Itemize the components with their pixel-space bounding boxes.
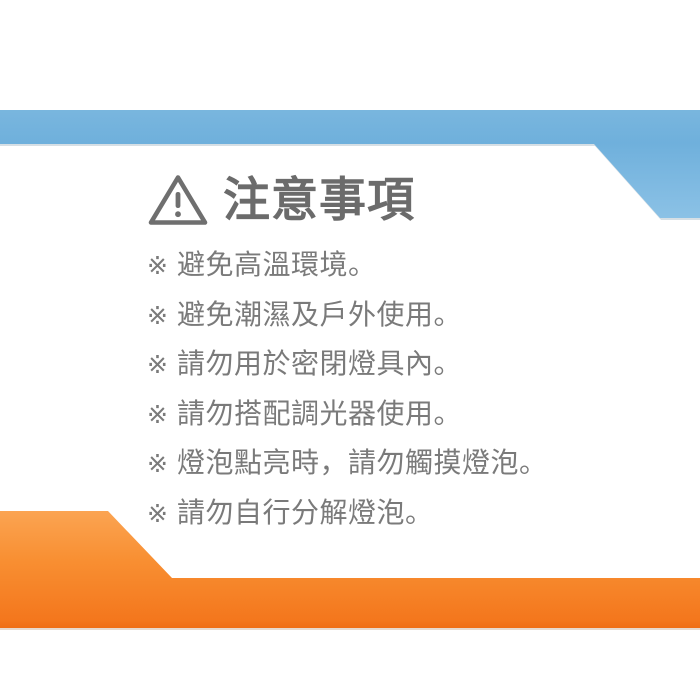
notice-text: 避免潮濕及戶外使用。 [177, 293, 462, 333]
page-title-text: 注意事項 [223, 177, 415, 224]
notice-marker-icon: ※ [147, 301, 168, 330]
notice-text: 請勿搭配調光器使用。 [177, 392, 462, 432]
notice-marker-icon: ※ [147, 251, 168, 280]
notice-text: 燈泡點亮時，請勿觸摸燈泡。 [177, 441, 548, 481]
list-item: ※ 避免高溫環境。 [147, 243, 547, 293]
warning-triangle-icon [147, 172, 209, 228]
list-item: ※ 請勿搭配調光器使用。 [147, 392, 547, 442]
notice-marker-icon: ※ [147, 499, 168, 528]
list-item: ※ 避免潮濕及戶外使用。 [147, 293, 547, 343]
notice-marker-icon: ※ [147, 350, 168, 379]
notice-marker-icon: ※ [147, 400, 168, 429]
notice-list: ※ 避免高溫環境。 ※ 避免潮濕及戶外使用。 ※ 請勿用於密閉燈具內。 ※ 請勿… [147, 243, 547, 540]
page-title: 注意事項 [147, 172, 415, 228]
notice-card: 注意事項 ※ 避免高溫環境。 ※ 避免潮濕及戶外使用。 ※ 請勿用於密閉燈具內。… [0, 0, 700, 700]
list-item: ※ 請勿用於密閉燈具內。 [147, 342, 547, 392]
list-item: ※ 燈泡點亮時，請勿觸摸燈泡。 [147, 441, 547, 491]
list-item: ※ 請勿自行分解燈泡。 [147, 491, 547, 541]
notice-text: 請勿自行分解燈泡。 [177, 491, 434, 531]
notice-text: 請勿用於密閉燈具內。 [177, 342, 462, 382]
notice-text: 避免高溫環境。 [177, 243, 377, 283]
notice-marker-icon: ※ [147, 449, 168, 478]
